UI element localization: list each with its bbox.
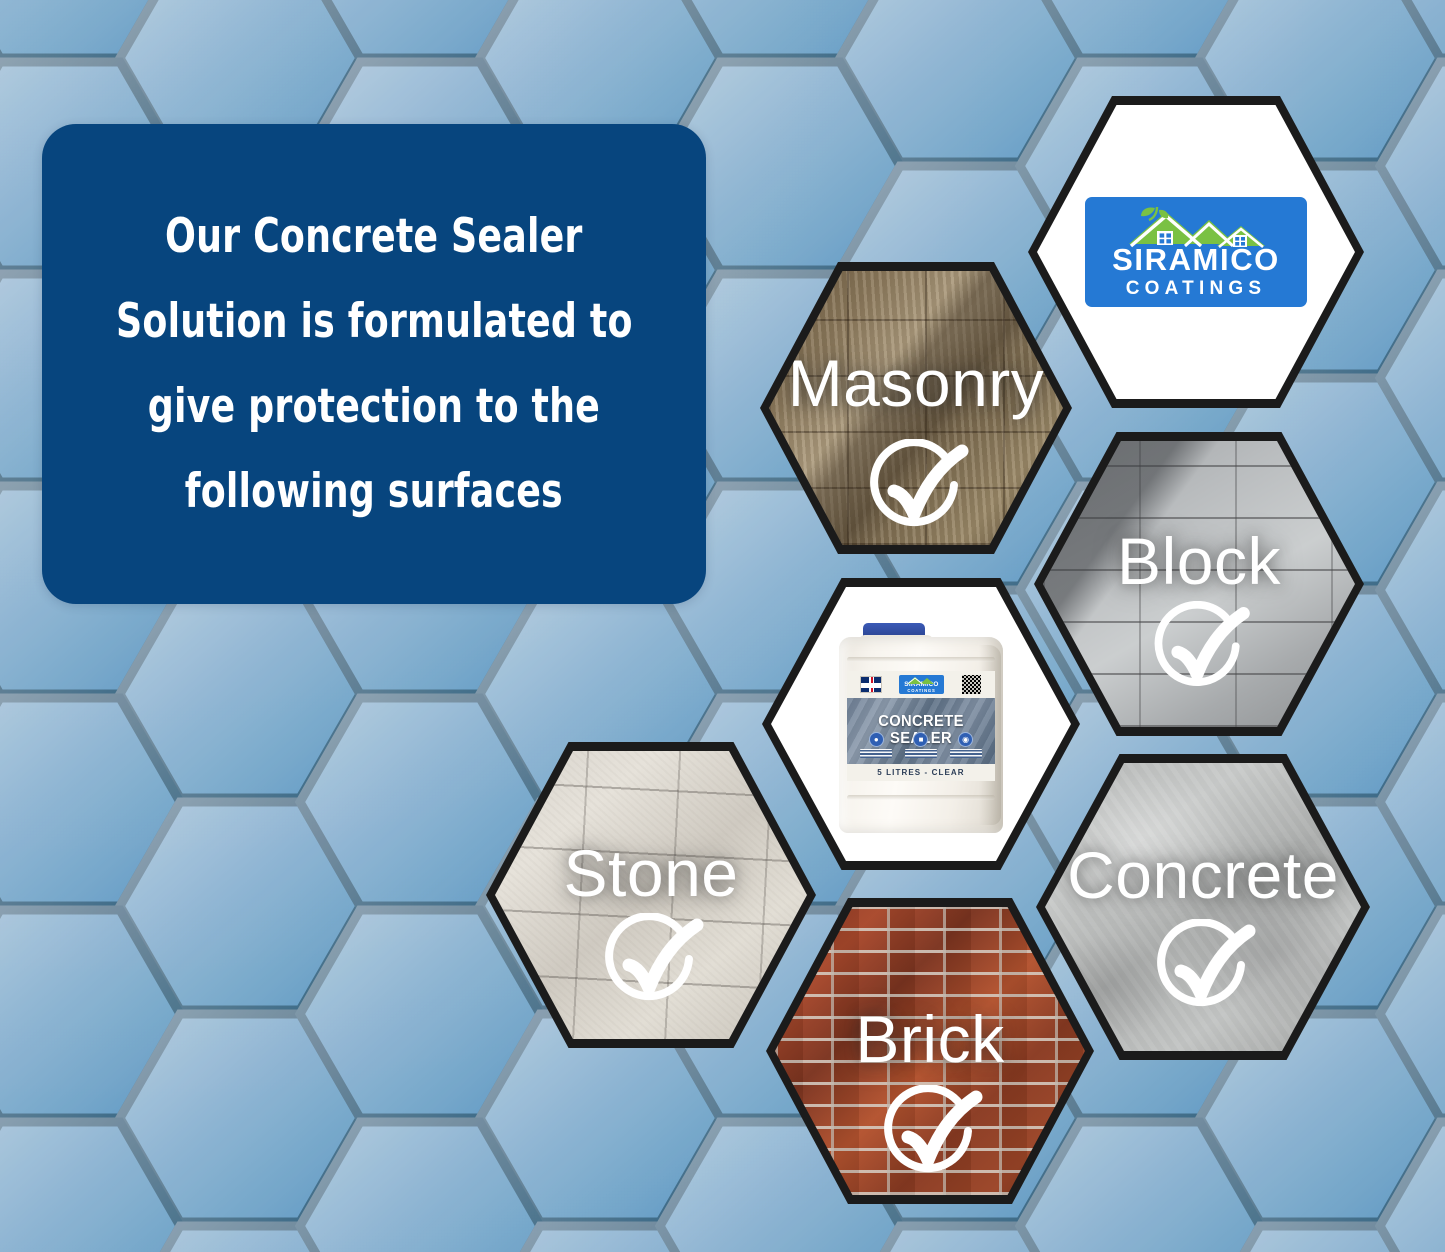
hex-tile-masonry-inner: Masonry: [769, 271, 1063, 545]
headline-line-4: following surfaces: [185, 468, 563, 515]
uk-flag-badge: [860, 676, 882, 693]
product-label-artwork: CONCRETE SEALER ● ■: [847, 698, 995, 764]
headline-panel: Our Concrete Sealer Solution is formulat…: [42, 124, 706, 604]
qr-code-badge: [961, 674, 982, 695]
check-icon-concrete: [1141, 919, 1265, 1025]
headline-line-1: Our Concrete Sealer: [165, 213, 583, 260]
surface-label-stone: Stone: [495, 835, 807, 911]
logo-brand-sub: COATINGS: [1126, 279, 1266, 298]
product-container: SIRAMICO COATINGS CONCRETE SEALER ●: [833, 615, 1009, 833]
hex-tile-block-inner: Block: [1043, 441, 1355, 727]
check-icon-masonry: [854, 439, 978, 545]
logo-brand-name: SIRAMICO: [1112, 244, 1280, 275]
check-icon-stone: [589, 913, 713, 1019]
feature-caption-2: [905, 749, 937, 758]
feature-icon-2: ■: [905, 732, 937, 758]
jug-ridge-top: [847, 657, 995, 662]
siramico-logo: SIRAMICO COATINGS: [1085, 197, 1307, 307]
feature-caption-3: [950, 749, 982, 758]
hex-tile-brick-inner: Brick: [775, 907, 1085, 1195]
headline-line-3: give protection to the: [148, 383, 600, 430]
shield-icon: ■: [913, 732, 928, 747]
feature-caption-1: [860, 749, 892, 758]
hex-tile-stone-inner: Stone: [495, 751, 807, 1039]
product-volume: 5 LITRES - CLEAR: [877, 768, 964, 777]
feature-icon-1: ●: [860, 732, 892, 758]
product-label: SIRAMICO COATINGS CONCRETE SEALER ●: [847, 671, 995, 781]
droplet-icon: ●: [869, 732, 884, 747]
poster-canvas: Our Concrete Sealer Solution is formulat…: [0, 0, 1445, 1252]
product-volume-strip: 5 LITRES - CLEAR: [847, 764, 995, 781]
surface-label-concrete: Concrete: [1045, 837, 1361, 913]
house-roof-icon: [1121, 204, 1271, 248]
surface-label-block: Block: [1043, 523, 1355, 599]
product-feature-icons: ● ■ ◉: [847, 732, 995, 758]
jug-ridge-bottom: [847, 795, 995, 800]
product-label-badges: SIRAMICO COATINGS: [847, 671, 995, 698]
surface-label-brick: Brick: [775, 1001, 1085, 1077]
headline-line-2: Solution is formulated to: [116, 298, 633, 345]
hex-tile-concrete-inner: Concrete: [1045, 763, 1361, 1051]
surface-label-masonry: Masonry: [769, 345, 1063, 421]
siramico-logo-badge: SIRAMICO COATINGS: [899, 675, 944, 694]
eye-icon: ◉: [958, 732, 973, 747]
hex-tile-product-inner: SIRAMICO COATINGS CONCRETE SEALER ●: [771, 587, 1071, 861]
product-title-line1: CONCRETE: [853, 714, 989, 731]
hex-tile-logo-inner: SIRAMICO COATINGS: [1037, 105, 1355, 399]
check-icon-block: [1139, 601, 1259, 705]
house-roof-icon-small: [906, 676, 936, 684]
badge-brand-sub: COATINGS: [907, 689, 935, 693]
feature-icon-3: ◉: [950, 732, 982, 758]
check-icon-brick: [868, 1085, 992, 1191]
